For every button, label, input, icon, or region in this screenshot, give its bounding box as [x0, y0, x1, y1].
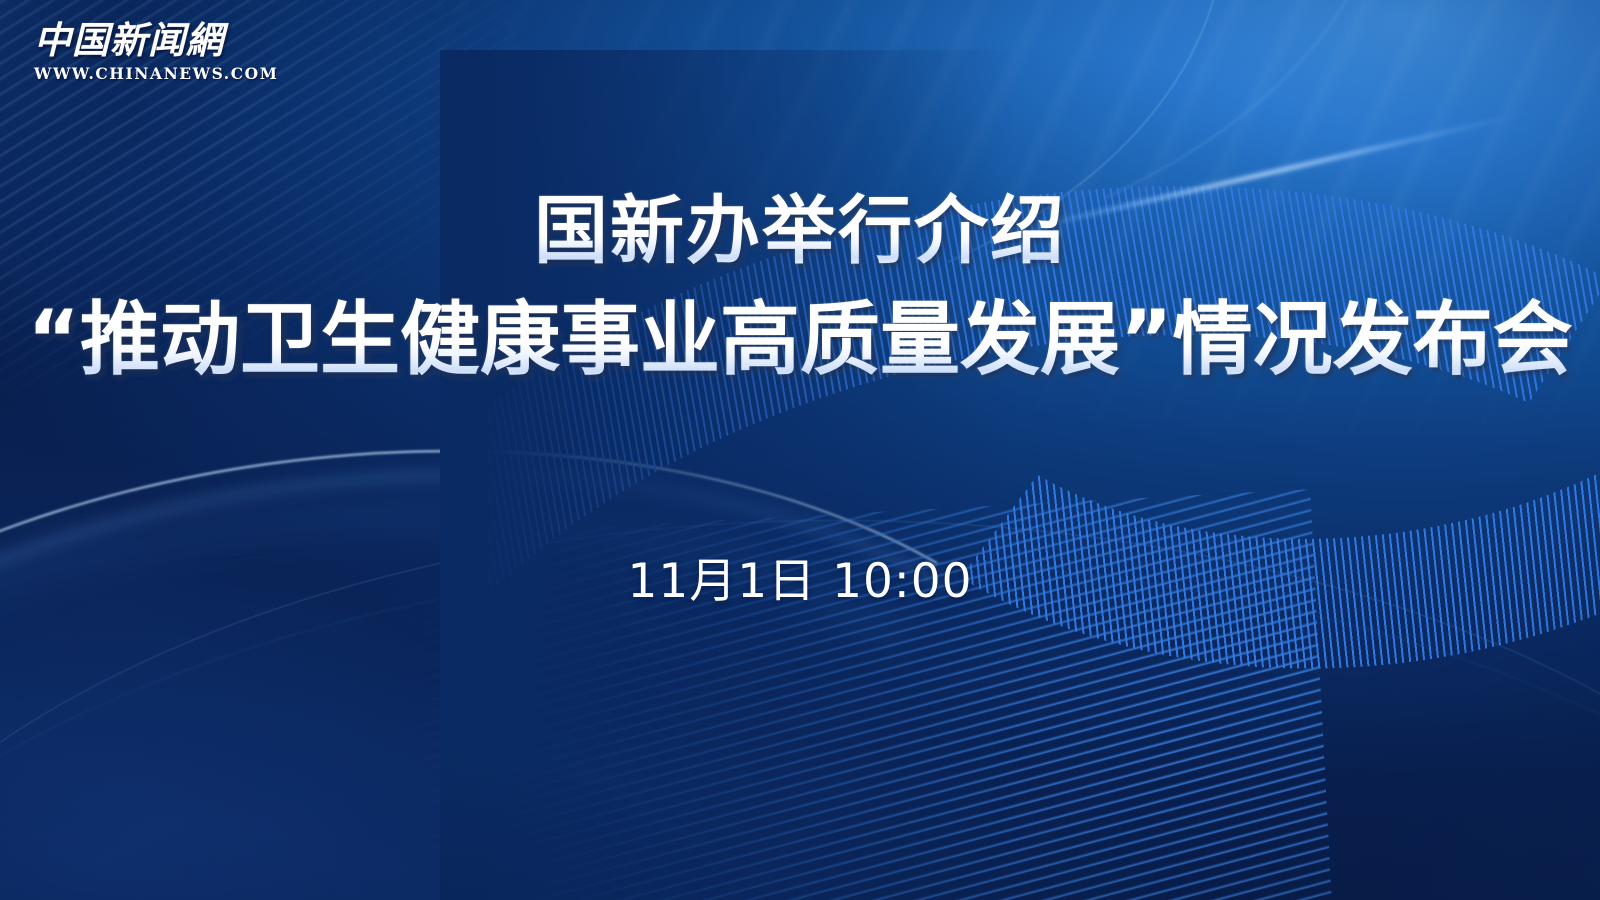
news-graphic-poster: 中国新闻網 WWW.CHINANEWS.COM 国新办举行介绍 “推动卫生健康事…	[0, 0, 1600, 900]
headline-line-2: “推动卫生健康事业高质量发展”情况发布会	[0, 288, 1600, 392]
headline-line-1: 国新办举行介绍	[0, 186, 1600, 276]
chinanews-logo[interactable]: 中国新闻網 WWW.CHINANEWS.COM	[34, 18, 234, 83]
headline-block: 国新办举行介绍 “推动卫生健康事业高质量发展”情况发布会	[0, 186, 1600, 392]
logo-wordmark: 中国新闻網	[34, 18, 234, 62]
light-streak-hotspot	[0, 405, 2, 536]
event-datetime: 11月1日 10:00	[0, 552, 1600, 612]
wave-ribbon-decoration	[440, 50, 1600, 900]
wave-ribbon-fade	[440, 50, 1600, 900]
logo-website-url: WWW.CHINANEWS.COM	[34, 64, 234, 83]
